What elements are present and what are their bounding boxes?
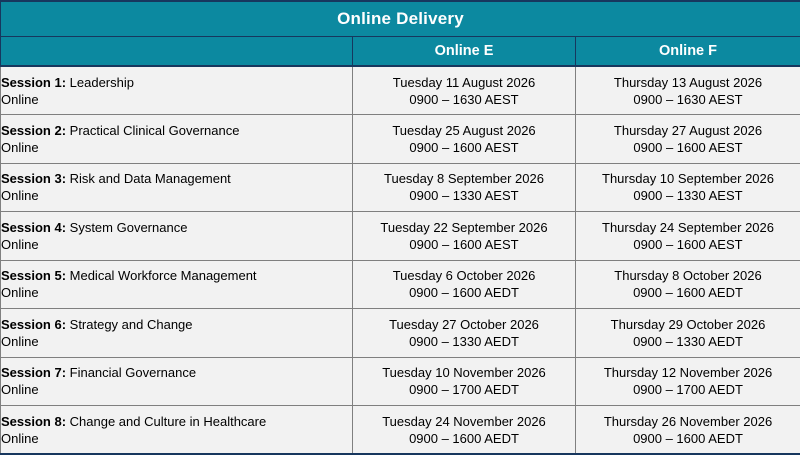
session-mode: Online — [1, 187, 352, 204]
online-f-date: Thursday 10 September 2026 — [576, 170, 800, 187]
online-e-date: Tuesday 6 October 2026 — [353, 267, 575, 284]
online-f-date: Thursday 13 August 2026 — [576, 74, 800, 91]
online-f-time: 0900 – 1330 AEDT — [576, 333, 800, 350]
table-header: Online Delivery Online E Online F — [1, 1, 800, 66]
table-row: Session 7: Financial GovernanceOnlineTue… — [1, 357, 800, 406]
column-header-session — [1, 36, 353, 66]
online-e-date: Tuesday 27 October 2026 — [353, 316, 575, 333]
online-f-time: 0900 – 1600 AEST — [576, 236, 800, 253]
session-title: Financial Governance — [66, 365, 196, 380]
session-number: Session 8: — [1, 414, 66, 429]
online-f-cell: Thursday 27 August 20260900 – 1600 AEST — [576, 115, 800, 164]
session-number: Session 3: — [1, 171, 66, 186]
table-row: Session 6: Strategy and ChangeOnlineTues… — [1, 309, 800, 358]
online-e-cell: Tuesday 8 September 20260900 – 1330 AEST — [353, 163, 576, 212]
online-delivery-schedule-table: Online Delivery Online E Online F Sessio… — [0, 0, 800, 455]
table-row: Session 3: Risk and Data ManagementOnlin… — [1, 163, 800, 212]
session-title: System Governance — [66, 220, 187, 235]
table-row: Session 1: LeadershipOnlineTuesday 11 Au… — [1, 66, 800, 115]
table-row: Session 2: Practical Clinical Governance… — [1, 115, 800, 164]
online-e-cell: Tuesday 27 October 20260900 – 1330 AEDT — [353, 309, 576, 358]
session-cell: Session 6: Strategy and ChangeOnline — [1, 309, 353, 358]
session-number: Session 4: — [1, 220, 66, 235]
session-cell: Session 2: Practical Clinical Governance… — [1, 115, 353, 164]
session-mode: Online — [1, 139, 352, 156]
online-e-cell: Tuesday 25 August 20260900 – 1600 AEST — [353, 115, 576, 164]
session-cell: Session 1: LeadershipOnline — [1, 66, 353, 115]
online-e-time: 0900 – 1600 AEST — [353, 139, 575, 156]
session-cell: Session 5: Medical Workforce ManagementO… — [1, 260, 353, 309]
session-cell: Session 4: System GovernanceOnline — [1, 212, 353, 261]
online-e-date: Tuesday 8 September 2026 — [353, 170, 575, 187]
online-e-cell: Tuesday 11 August 20260900 – 1630 AEST — [353, 66, 576, 115]
session-mode: Online — [1, 381, 352, 398]
table-row: Session 4: System GovernanceOnlineTuesda… — [1, 212, 800, 261]
online-e-time: 0900 – 1630 AEST — [353, 91, 575, 108]
online-f-date: Thursday 8 October 2026 — [576, 267, 800, 284]
online-e-time: 0900 – 1700 AEDT — [353, 381, 575, 398]
session-title: Risk and Data Management — [66, 171, 231, 186]
session-number: Session 1: — [1, 75, 66, 90]
session-number: Session 6: — [1, 317, 66, 332]
online-f-cell: Thursday 12 November 20260900 – 1700 AED… — [576, 357, 800, 406]
session-mode: Online — [1, 284, 352, 301]
session-mode: Online — [1, 236, 352, 253]
online-f-time: 0900 – 1630 AEST — [576, 91, 800, 108]
session-number: Session 7: — [1, 365, 66, 380]
online-f-time: 0900 – 1600 AEDT — [576, 430, 800, 447]
session-title: Practical Clinical Governance — [66, 123, 239, 138]
online-e-cell: Tuesday 10 November 20260900 – 1700 AEDT — [353, 357, 576, 406]
session-title: Strategy and Change — [66, 317, 192, 332]
session-cell: Session 3: Risk and Data ManagementOnlin… — [1, 163, 353, 212]
session-title: Medical Workforce Management — [66, 268, 257, 283]
online-e-cell: Tuesday 22 September 20260900 – 1600 AES… — [353, 212, 576, 261]
online-e-time: 0900 – 1600 AEDT — [353, 284, 575, 301]
online-f-time: 0900 – 1700 AEDT — [576, 381, 800, 398]
table-row: Session 8: Change and Culture in Healthc… — [1, 406, 800, 455]
session-mode: Online — [1, 333, 352, 350]
online-f-cell: Thursday 24 September 20260900 – 1600 AE… — [576, 212, 800, 261]
table-title: Online Delivery — [1, 1, 800, 36]
session-mode: Online — [1, 430, 352, 447]
online-e-time: 0900 – 1600 AEDT — [353, 430, 575, 447]
session-cell: Session 7: Financial GovernanceOnline — [1, 357, 353, 406]
online-e-date: Tuesday 24 November 2026 — [353, 413, 575, 430]
online-f-time: 0900 – 1600 AEST — [576, 139, 800, 156]
session-title: Change and Culture in Healthcare — [66, 414, 266, 429]
online-f-time: 0900 – 1600 AEDT — [576, 284, 800, 301]
online-f-cell: Thursday 8 October 20260900 – 1600 AEDT — [576, 260, 800, 309]
online-e-time: 0900 – 1600 AEST — [353, 236, 575, 253]
online-e-date: Tuesday 10 November 2026 — [353, 364, 575, 381]
column-header-row: Online E Online F — [1, 36, 800, 66]
session-title: Leadership — [66, 75, 134, 90]
online-f-date: Thursday 29 October 2026 — [576, 316, 800, 333]
online-f-cell: Thursday 26 November 20260900 – 1600 AED… — [576, 406, 800, 455]
online-e-date: Tuesday 25 August 2026 — [353, 122, 575, 139]
online-f-cell: Thursday 10 September 20260900 – 1330 AE… — [576, 163, 800, 212]
online-f-cell: Thursday 29 October 20260900 – 1330 AEDT — [576, 309, 800, 358]
online-f-date: Thursday 27 August 2026 — [576, 122, 800, 139]
table-body: Session 1: LeadershipOnlineTuesday 11 Au… — [1, 66, 800, 454]
session-number: Session 2: — [1, 123, 66, 138]
online-f-date: Thursday 24 September 2026 — [576, 219, 800, 236]
column-header-online-e: Online E — [353, 36, 576, 66]
online-f-time: 0900 – 1330 AEST — [576, 187, 800, 204]
session-number: Session 5: — [1, 268, 66, 283]
online-e-time: 0900 – 1330 AEST — [353, 187, 575, 204]
title-row: Online Delivery — [1, 1, 800, 36]
table-row: Session 5: Medical Workforce ManagementO… — [1, 260, 800, 309]
online-e-cell: Tuesday 24 November 20260900 – 1600 AEDT — [353, 406, 576, 455]
online-f-date: Thursday 26 November 2026 — [576, 413, 800, 430]
online-e-date: Tuesday 22 September 2026 — [353, 219, 575, 236]
online-e-date: Tuesday 11 August 2026 — [353, 74, 575, 91]
online-e-cell: Tuesday 6 October 20260900 – 1600 AEDT — [353, 260, 576, 309]
online-e-time: 0900 – 1330 AEDT — [353, 333, 575, 350]
session-cell: Session 8: Change and Culture in Healthc… — [1, 406, 353, 455]
online-f-cell: Thursday 13 August 20260900 – 1630 AEST — [576, 66, 800, 115]
session-mode: Online — [1, 91, 352, 108]
online-f-date: Thursday 12 November 2026 — [576, 364, 800, 381]
column-header-online-f: Online F — [576, 36, 800, 66]
